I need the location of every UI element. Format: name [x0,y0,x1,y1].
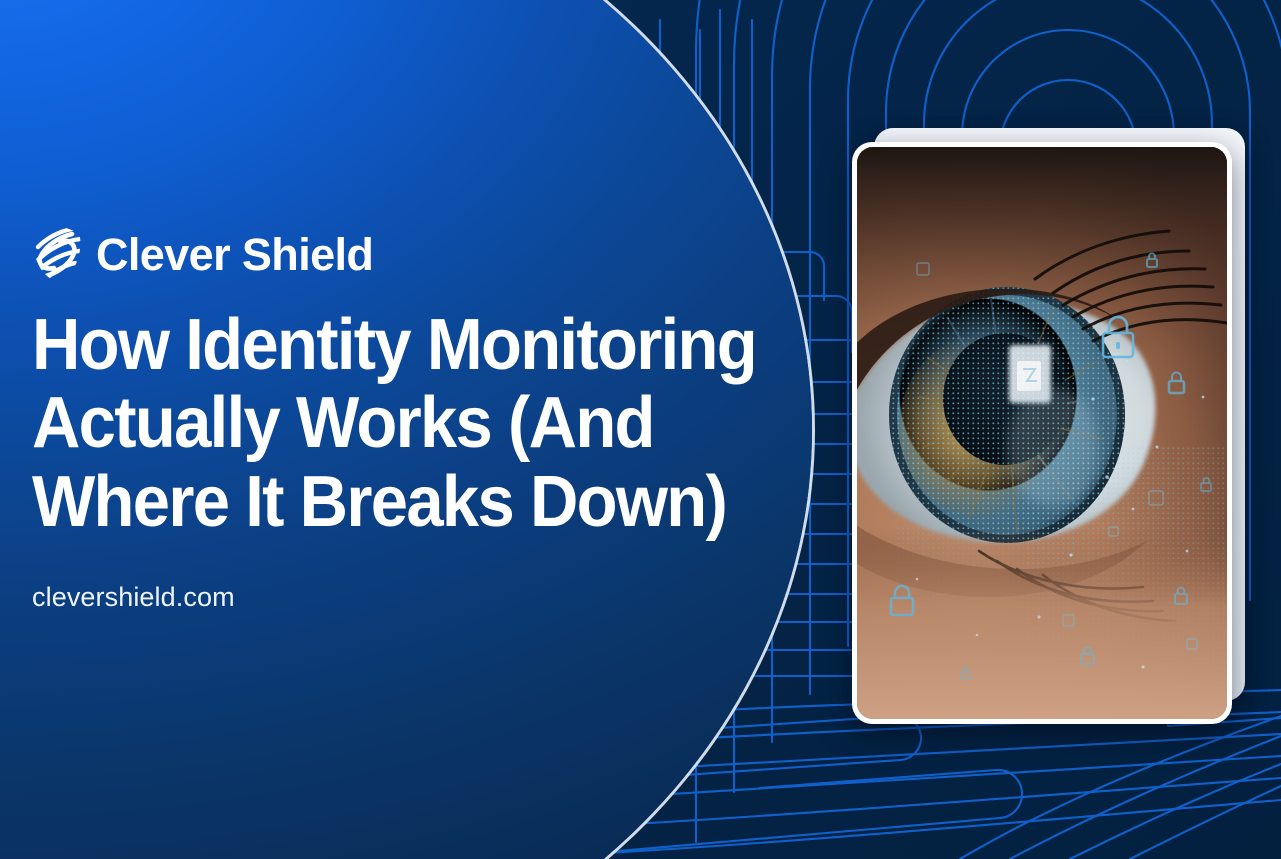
eye-photo [857,147,1227,719]
photo-card-front [852,142,1232,724]
brand-name: Clever Shield [96,232,373,277]
headline-line-2: Actually Works (And [32,384,767,462]
shield-s-logo-icon [32,226,82,282]
headline-line-1: How Identity Monitoring [32,306,767,384]
page-title: How Identity Monitoring Actually Works (… [32,306,767,541]
social-share-card: Clever Shield How Identity Monitoring Ac… [0,0,1281,859]
site-url[interactable]: clevershield.com [32,584,235,611]
brand-lockup: Clever Shield [32,222,373,286]
headline-line-3: Where It Breaks Down) [32,463,767,541]
content-column: Clever Shield How Identity Monitoring Ac… [32,0,822,859]
